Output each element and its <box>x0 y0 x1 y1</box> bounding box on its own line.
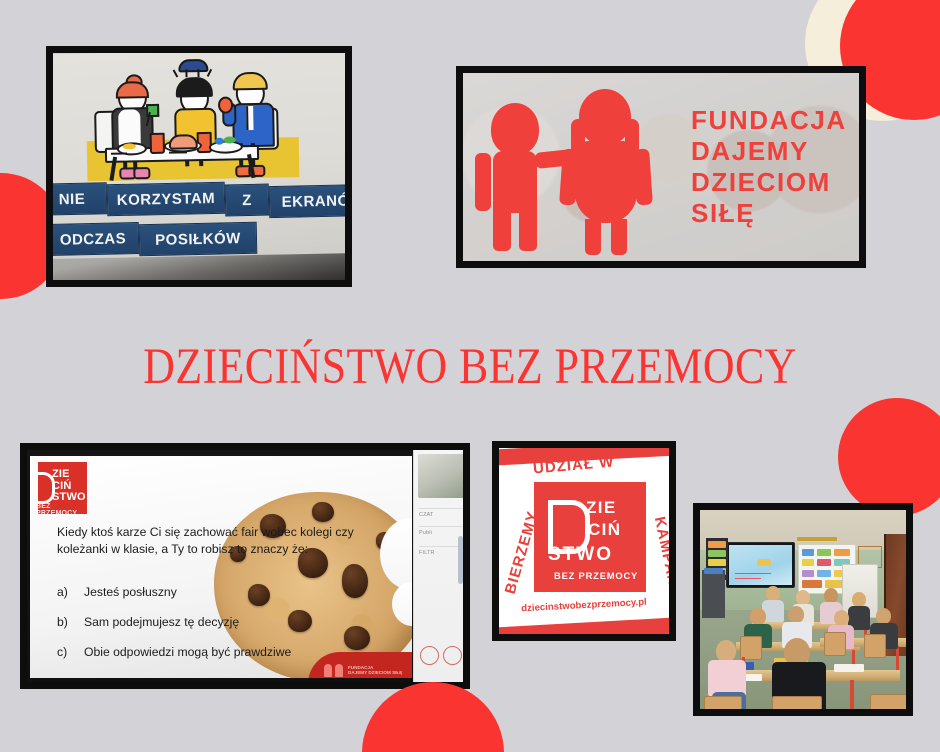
kid-shirt-collar <box>246 106 253 130</box>
fdds-line-1: FUNDACJA <box>691 105 847 136</box>
classroom-shelf-unit <box>702 570 725 618</box>
logo-line-stwo: STWO <box>548 544 613 566</box>
interactive-whiteboard <box>726 542 795 588</box>
boy-head <box>491 103 539 155</box>
pupil-head <box>766 586 780 601</box>
photo-slide-no-screens: NIE KORZYSTAM Z EKRANÓW ODCZAS POSIŁKÓW <box>46 46 352 287</box>
cutlery <box>111 152 127 154</box>
pupil-head <box>750 608 766 625</box>
lamp-ray <box>197 69 199 77</box>
fdds-figure-icon <box>335 664 343 677</box>
boy-arm-left <box>475 153 491 211</box>
logo-line-zie: ZIE <box>586 498 617 518</box>
kid-shoe <box>133 167 150 179</box>
self-video-tile[interactable] <box>418 454 463 498</box>
chair <box>864 634 886 658</box>
red-circle-bottom <box>362 682 504 752</box>
pupil-head <box>716 640 736 662</box>
quiz-option: b) Sam podejmujesz tę decyzję <box>57 614 377 630</box>
badge-bottom-stripe <box>499 616 669 634</box>
pupil-head <box>796 590 810 605</box>
pupil-head <box>876 608 891 624</box>
pupil-body <box>708 660 746 696</box>
pupil-head <box>852 592 866 607</box>
dziecinstwo-logo-square: ZIE CIŃ STWO BEZ PRZEMOCY <box>534 482 646 592</box>
poster-cell <box>802 549 814 556</box>
banner-word-podczas: ODCZAS <box>53 222 139 256</box>
fdds-line-3: DZIECIOM <box>691 167 847 198</box>
boy-torso <box>493 151 537 213</box>
photo-classroom <box>693 503 913 716</box>
photo-fdds-content: FUNDACJA DAJEMY DZIECIOM SIŁĘ <box>463 73 859 261</box>
panel-scrollbar[interactable] <box>458 536 463 584</box>
photo-slide-no-screens-content: NIE KORZYSTAM Z EKRANÓW ODCZAS POSIŁKÓW <box>53 53 345 280</box>
notice-card <box>708 559 726 566</box>
quiz-option-text: Jesteś posłuszny <box>84 584 177 600</box>
red-circle-right <box>838 398 940 516</box>
whiteboard-screen <box>729 545 792 585</box>
quiz-option: a) Jesteś posłuszny <box>57 584 377 600</box>
quiz-option-key: a) <box>57 584 84 600</box>
photo-quiz-content: ZIE CIŃ STWO BEZ PRZEMOCY <box>27 450 463 682</box>
photo-quiz-slide: ZIE CIŃ STWO BEZ PRZEMOCY <box>20 443 470 689</box>
kid-hair <box>176 77 213 98</box>
logo-line-1: ZIE <box>52 469 86 481</box>
desk-leg <box>896 646 899 672</box>
whiteboard-line <box>735 578 761 579</box>
dziecinstwo-logo-small: ZIE CIŃ STWO BEZ PRZEMOCY <box>38 462 87 514</box>
desk-leg <box>850 680 854 709</box>
chair <box>870 694 906 709</box>
shelf-books <box>704 568 723 574</box>
quiz-option-text: Sam podejmujesz tę decyzję <box>84 614 239 630</box>
kid-hair <box>232 72 267 91</box>
quiz-option-key: b) <box>57 614 84 630</box>
poster-cell <box>817 570 831 577</box>
photo-campaign-badge: UDZIAŁ W BIERZEMY KAMPANII ZIE CIŃ STWO … <box>492 441 676 641</box>
panel-divider <box>419 546 463 547</box>
quiz-question: Kiedy ktoś karze Ci się zachować fair wo… <box>57 524 387 558</box>
logo-subtitle: BEZ PRZEMOCY <box>38 503 87 514</box>
fdds-line-2: DAJEMY <box>691 136 847 167</box>
pupil-head <box>824 588 838 603</box>
logo-subtitle: BEZ PRZEMOCY <box>554 570 638 581</box>
logo-line-cin: CIŃ <box>588 520 621 540</box>
camera-button[interactable] <box>443 646 462 665</box>
panel-label-chat[interactable]: CZAT <box>419 512 433 518</box>
panel-label-public[interactable]: Publi <box>419 530 432 536</box>
poster-cell <box>834 549 850 556</box>
logo-text: ZIE CIŃ STWO <box>52 469 86 504</box>
poster-cell <box>802 570 814 577</box>
notice-card <box>708 550 726 557</box>
panel-label-filter[interactable]: FILTR <box>419 550 435 556</box>
whiteboard-content-blob <box>757 559 771 566</box>
girl-dress <box>575 141 637 223</box>
poster-cell <box>817 559 831 566</box>
presentation-slide: ZIE CIŃ STWO BEZ PRZEMOCY <box>30 456 412 678</box>
chair <box>824 632 846 656</box>
banner-word-posilkow: POSIŁKÓW <box>139 222 258 256</box>
lamp-ray <box>173 70 179 78</box>
fdds-figure-icon <box>324 664 332 677</box>
girl-leg-left <box>585 219 601 255</box>
chocolate-chip <box>312 502 334 522</box>
poster-canvas: NIE KORZYSTAM Z EKRANÓW ODCZAS POSIŁKÓW <box>0 0 940 752</box>
pupil-head <box>788 606 804 623</box>
girl-head <box>579 89 631 145</box>
kid-hair <box>116 81 149 99</box>
microphone-button[interactable] <box>420 646 439 665</box>
boy-leg-left <box>493 209 511 251</box>
fdds-wordmark: FUNDACJA DAJEMY DZIECIOM SIŁĘ <box>691 105 847 229</box>
slide-fdds-badge: FUNDACJA DAJEMY DZIECIOM SIŁĘ <box>308 652 412 678</box>
notebook <box>834 664 864 672</box>
lamp-ray <box>185 69 187 77</box>
banner-word-z: Z <box>225 184 270 217</box>
logo-line-3: STWO <box>52 492 86 504</box>
poster-cell <box>802 580 822 588</box>
cookie-bite <box>392 582 412 626</box>
page-title: DZIECIŃSTWO BEZ PRZEMOCY <box>66 338 874 396</box>
banner-word-ekranow: EKRANÓW <box>269 184 345 218</box>
girl-leg-right <box>611 219 627 255</box>
conference-side-panel[interactable]: CZAT Publi FILTR <box>413 450 463 682</box>
lamp-icon <box>178 59 208 73</box>
pupil-head <box>834 610 849 626</box>
quiz-option-key: c) <box>57 644 84 660</box>
glass-icon <box>150 133 165 154</box>
poster-cell <box>802 559 814 566</box>
poster-cell <box>817 549 831 556</box>
roast-food <box>169 134 198 150</box>
chair <box>772 696 822 709</box>
photo-campaign-badge-content: UDZIAŁ W BIERZEMY KAMPANII ZIE CIŃ STWO … <box>499 448 669 634</box>
banner-word-nie: NIE <box>53 182 107 215</box>
wall-frame <box>796 536 838 542</box>
panel-divider <box>419 526 463 527</box>
badge-url[interactable]: dziecinstwobezprzemocy.pl <box>499 596 669 616</box>
fdds-badge-line-2: DAJEMY DZIECIOM SIŁĘ <box>348 670 402 675</box>
chair <box>704 696 742 709</box>
quiz-option-text: Obie odpowiedzi mogą być prawdziwe <box>84 644 291 660</box>
notice-card <box>708 541 726 548</box>
kid-shirt <box>118 109 141 145</box>
fdds-line-4: SIŁĘ <box>691 198 847 229</box>
panel-divider <box>419 508 463 509</box>
fdds-badge-text: FUNDACJA DAJEMY DZIECIOM SIŁĘ <box>348 665 402 676</box>
photo-classroom-content <box>700 510 906 709</box>
cutlery <box>169 151 187 154</box>
banner-word-korzystam: KORZYSTAM <box>107 182 226 216</box>
boy-leg-right <box>519 209 537 251</box>
photo-fdds-logo: FUNDACJA DAJEMY DZIECIOM SIŁĘ <box>456 66 866 268</box>
badge-arc-right: KAMPANII <box>651 515 669 598</box>
badge-card: UDZIAŁ W BIERZEMY KAMPANII ZIE CIŃ STWO … <box>499 448 669 634</box>
whiteboard-line <box>735 573 771 574</box>
